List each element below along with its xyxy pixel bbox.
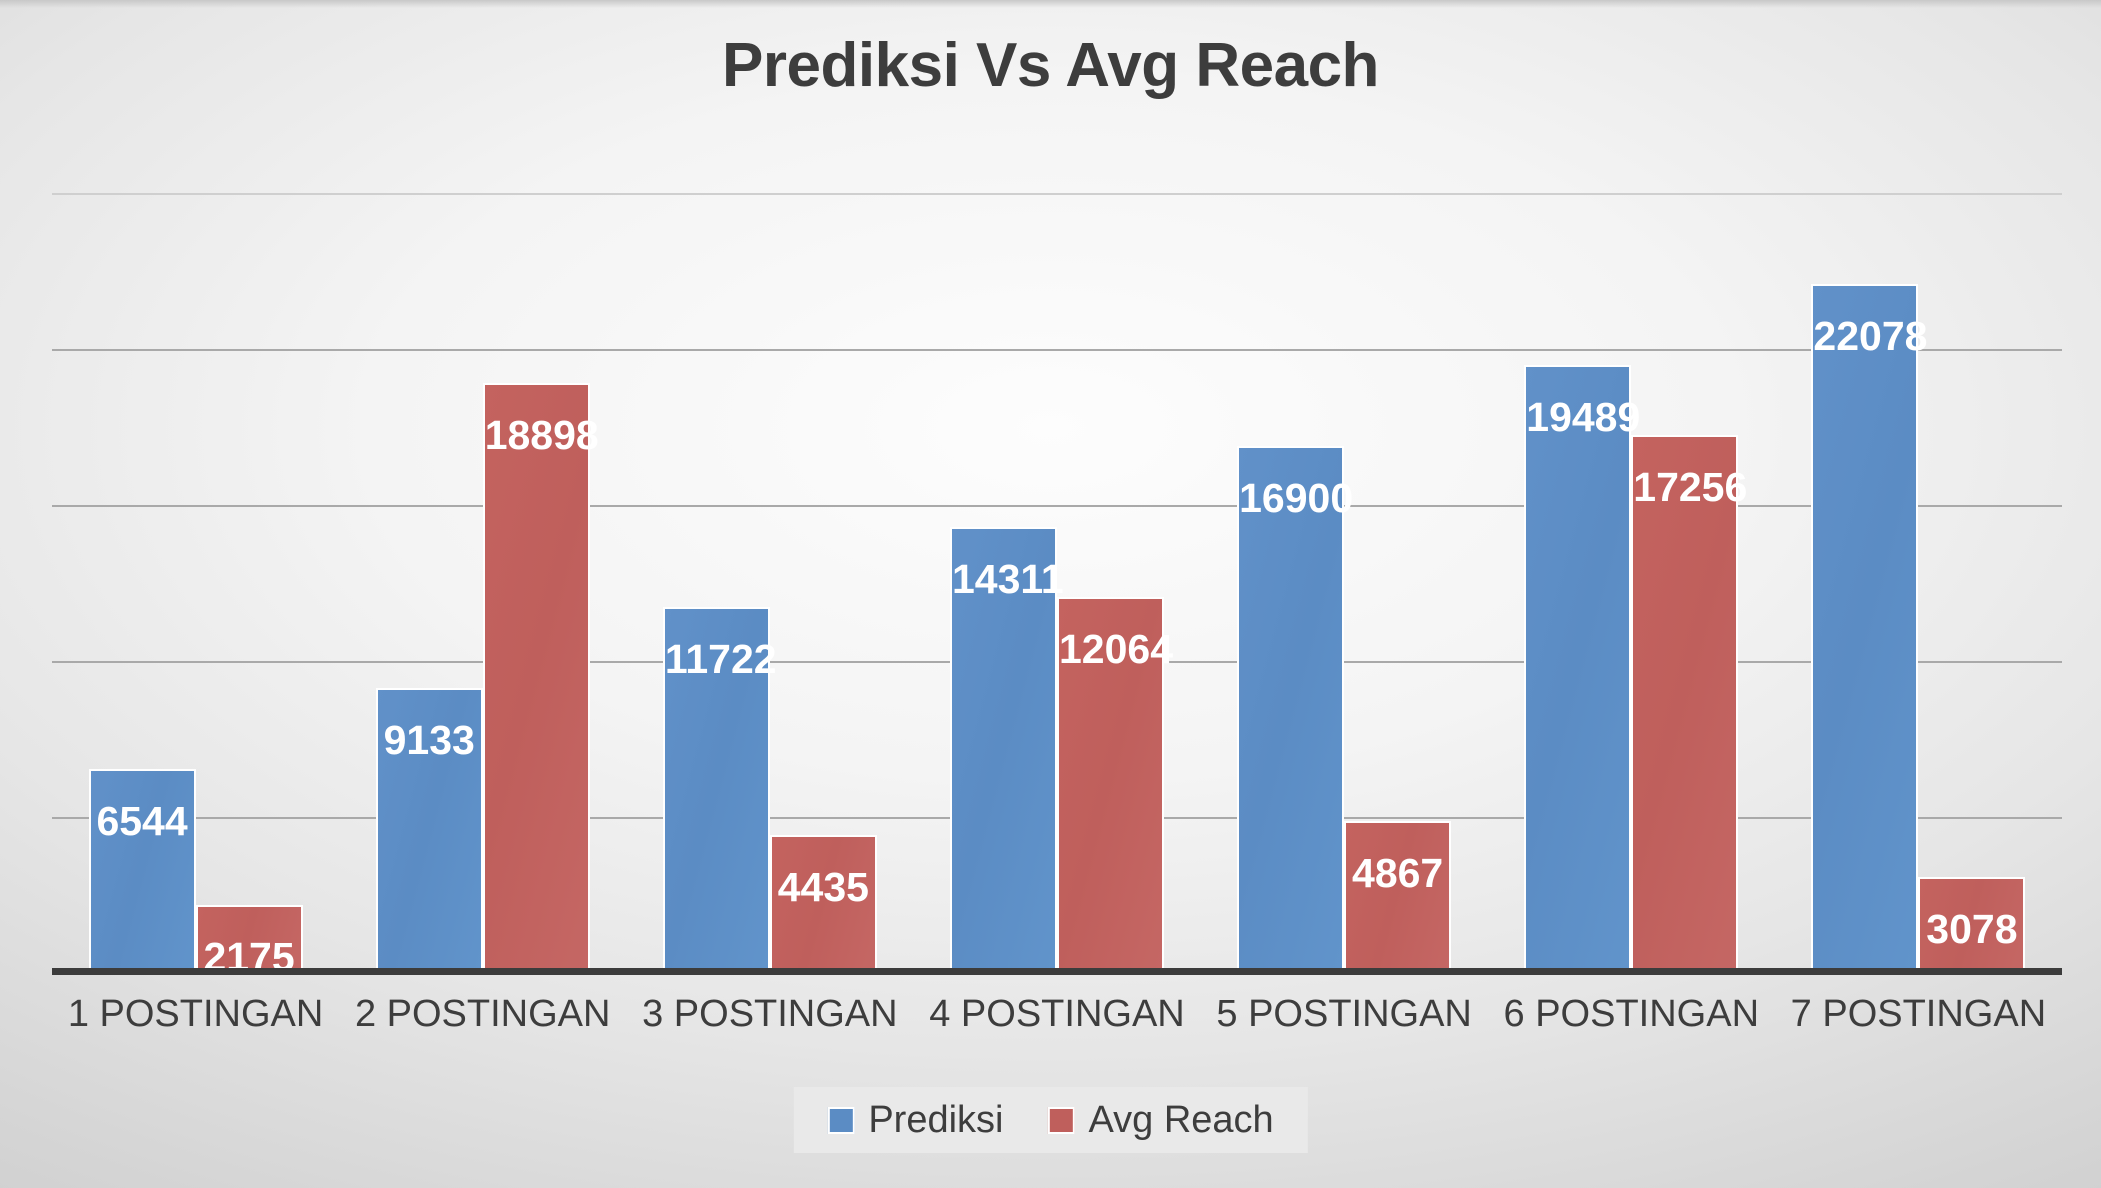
legend-swatch-icon — [1047, 1107, 1074, 1134]
legend-swatch-icon — [827, 1107, 854, 1134]
bar-prediksi[interactable]: 11722 — [663, 607, 770, 973]
bar-value-label: 14311 — [952, 559, 1055, 600]
bar-prediksi[interactable]: 16900 — [1237, 446, 1344, 973]
bar-prediksi[interactable]: 19489 — [1524, 365, 1631, 973]
bar-avg-reach[interactable]: 17256 — [1631, 435, 1738, 973]
chart-title: Prediksi Vs Avg Reach — [0, 30, 2101, 101]
bar-value-label: 22078 — [1813, 316, 1916, 357]
chart-legend[interactable]: PrediksiAvg Reach — [793, 1087, 1307, 1153]
legend-label: Avg Reach — [1088, 1101, 1273, 1139]
bar-avg-reach[interactable]: 4435 — [770, 835, 877, 973]
x-axis-line — [52, 968, 2062, 975]
category-label: 3 POSTINGAN — [626, 990, 913, 1039]
bar-group: 117224435 — [626, 193, 913, 973]
legend-entry[interactable]: Prediksi — [827, 1101, 1003, 1139]
bar-avg-reach[interactable]: 2175 — [196, 905, 303, 973]
bar-group: 913318898 — [339, 193, 626, 973]
bar-prediksi[interactable]: 6544 — [89, 769, 196, 973]
category-label: 1 POSTINGAN — [52, 990, 339, 1039]
legend-label: Prediksi — [868, 1101, 1003, 1139]
bars-layer: 6544217591331889811722443514311120641690… — [52, 193, 2062, 973]
category-label: 7 POSTINGAN — [1775, 990, 2062, 1039]
bar-value-label: 12064 — [1059, 629, 1162, 670]
legend-entry[interactable]: Avg Reach — [1047, 1101, 1273, 1139]
bar-avg-reach[interactable]: 18898 — [483, 383, 590, 973]
bar-value-label: 16900 — [1239, 478, 1342, 519]
category-axis: 1 POSTINGAN2 POSTINGAN3 POSTINGAN4 POSTI… — [52, 990, 2062, 1060]
bar-group: 1431112064 — [913, 193, 1200, 973]
category-label: 5 POSTINGAN — [1201, 990, 1488, 1039]
bar-value-label: 17256 — [1633, 467, 1736, 508]
category-label: 4 POSTINGAN — [913, 990, 1200, 1039]
bar-group: 169004867 — [1201, 193, 1488, 973]
bar-value-label: 11722 — [665, 639, 768, 680]
bar-group: 1948917256 — [1488, 193, 1775, 973]
bar-value-label: 9133 — [378, 720, 481, 761]
bar-value-label: 3078 — [1920, 909, 2023, 950]
bar-value-label: 6544 — [91, 801, 194, 842]
bar-avg-reach[interactable]: 4867 — [1344, 821, 1451, 973]
bar-group: 220783078 — [1775, 193, 2062, 973]
bar-prediksi[interactable]: 22078 — [1811, 284, 1918, 973]
bar-value-label: 4867 — [1346, 853, 1449, 894]
bar-prediksi[interactable]: 9133 — [376, 688, 483, 973]
bar-value-label: 4435 — [772, 867, 875, 908]
category-label: 6 POSTINGAN — [1488, 990, 1775, 1039]
bar-value-label: 18898 — [485, 415, 588, 456]
bar-chart: Prediksi Vs Avg Reach 654421759133188981… — [0, 0, 2101, 1188]
bar-group: 65442175 — [52, 193, 339, 973]
bar-prediksi[interactable]: 14311 — [950, 527, 1057, 974]
category-label: 2 POSTINGAN — [339, 990, 626, 1039]
bar-avg-reach[interactable]: 12064 — [1057, 597, 1164, 973]
bar-avg-reach[interactable]: 3078 — [1918, 877, 2025, 973]
bar-value-label: 19489 — [1526, 397, 1629, 438]
